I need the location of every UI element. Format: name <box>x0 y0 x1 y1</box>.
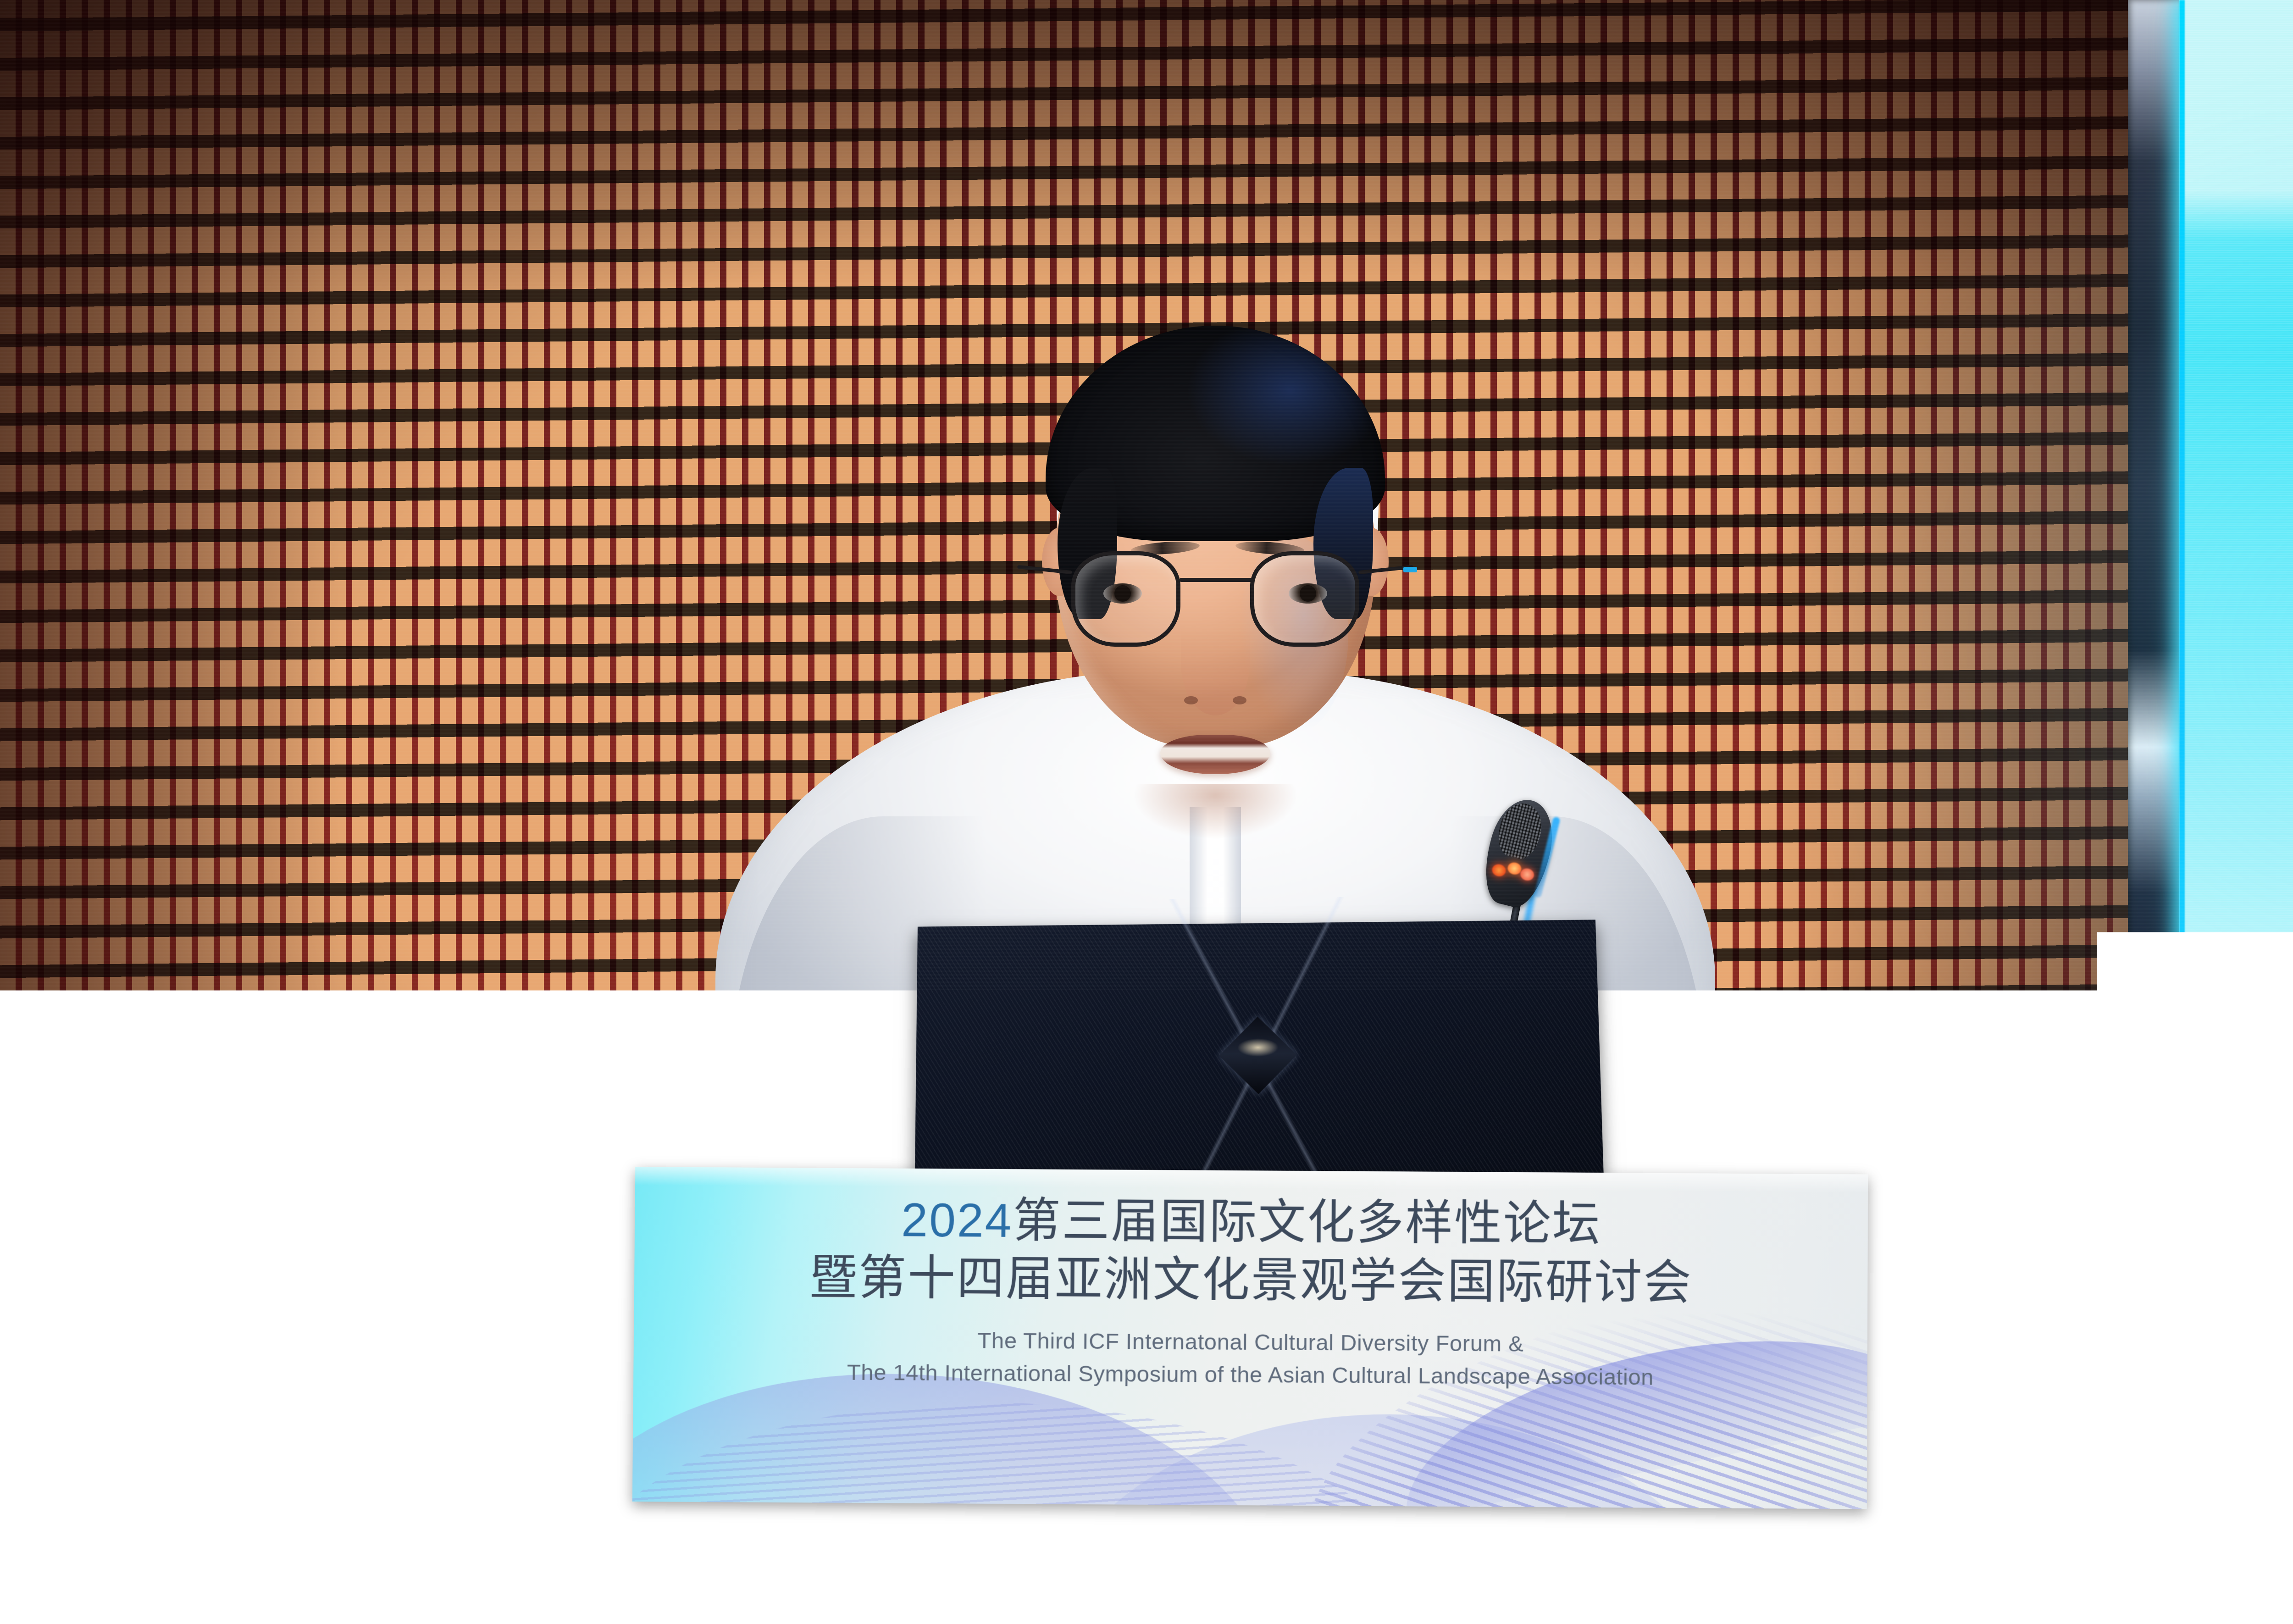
pupil-right <box>1300 585 1316 602</box>
led-screen-badge <box>2179 1607 2266 1624</box>
pupil-left <box>1114 585 1131 602</box>
podium-base <box>633 1504 1880 1624</box>
chin-shadow <box>1133 784 1298 839</box>
head <box>1055 344 1376 748</box>
nostril-right <box>1233 696 1246 704</box>
eye-right <box>1289 583 1327 604</box>
sign-year: 2024 <box>901 1194 1013 1247</box>
sign-text-block: 2024第三届国际文化多样性论坛 暨第十四届亚洲文化景观学会国际研讨会 The … <box>632 1167 1868 1509</box>
glasses-temple-tip <box>1403 567 1417 572</box>
laptop-lid <box>915 920 1604 1183</box>
sign-chinese-title-line1: 2024第三届国际文化多样性论坛 <box>901 1192 1601 1254</box>
podium-sign: 2024第三届国际文化多样性论坛 暨第十四届亚洲文化景观学会国际研讨会 The … <box>632 1167 1868 1509</box>
microphone-led-indicator <box>1519 867 1535 882</box>
metallic-pillar <box>2128 0 2182 1624</box>
microphone-led-indicator <box>1491 863 1507 877</box>
led-screen-column <box>2128 0 2293 1624</box>
nostril-left <box>1184 696 1198 704</box>
sign-chinese-title-line1-rest: 第三届国际文化多样性论坛 <box>1013 1194 1601 1251</box>
glasses-bridge <box>1180 578 1253 582</box>
sign-english-line1: The Third ICF Internatonal Cultural Dive… <box>847 1324 1654 1361</box>
sign-english-block: The Third ICF Internatonal Cultural Dive… <box>847 1324 1654 1394</box>
photo-scene: 2024第三届国际文化多样性论坛 暨第十四届亚洲文化景观学会国际研讨会 The … <box>0 0 2293 1624</box>
sign-chinese-title-line2: 暨第十四届亚洲文化景观学会国际研讨会 <box>809 1249 1693 1313</box>
mouth <box>1160 735 1270 774</box>
eye-left <box>1103 583 1142 604</box>
led-screen-edge-glow <box>2179 0 2185 1589</box>
sign-english-line2: The 14th International Symposium of the … <box>847 1356 1654 1394</box>
laptop-logo-glint <box>1237 1038 1279 1057</box>
led-screen-diagonal-streaks <box>2179 1192 2293 1591</box>
